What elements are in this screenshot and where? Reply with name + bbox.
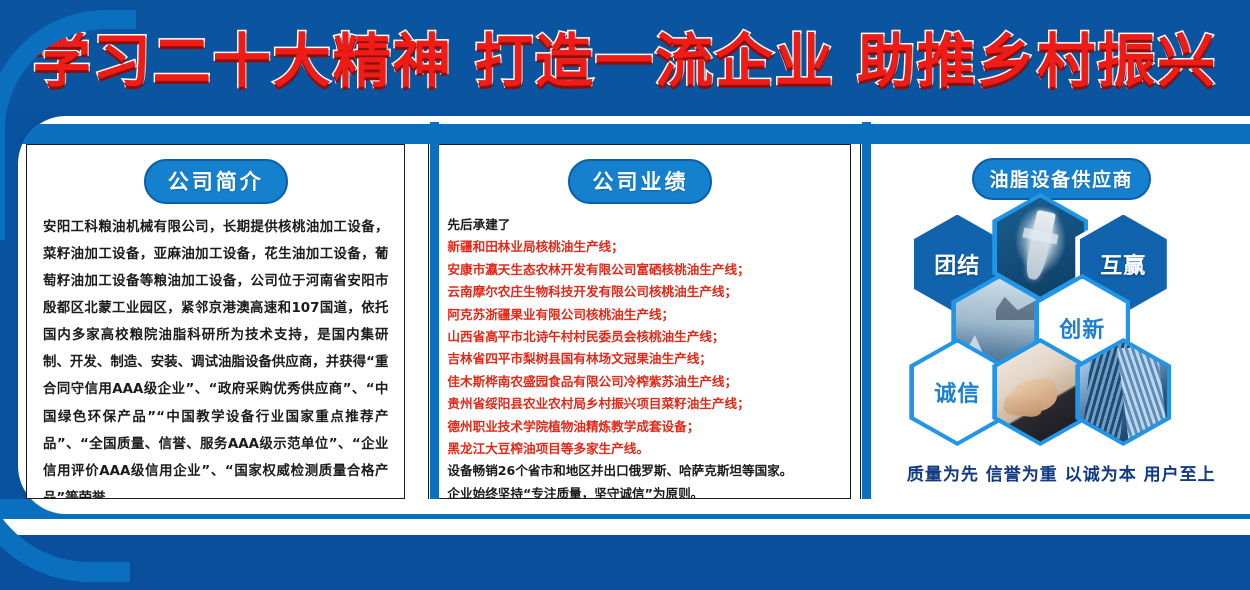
hex-chengxin-label: 诚信 (934, 376, 980, 408)
hex-handshake-inner (997, 343, 1084, 442)
achievement-item: 佳木斯桦南农盛园食品有限公司冷榨紫苏油生产线； (447, 371, 833, 393)
panels-row: 公司简介 安阳工科粮油机械有限公司，长期提供核桃油加工设备，菜籽油加工设备，亚麻… (18, 144, 1250, 499)
achievement-item: 山西省高平市北诗午村村民委员会核桃油生产线； (447, 326, 833, 348)
achievement-item: 黑龙江大豆榨油项目等多家生产线。 (447, 438, 833, 460)
company-intro-paragraph: 安阳工科粮油机械有限公司，长期提供核桃油加工设备，菜籽油加工设备，亚麻油加工设备… (43, 214, 388, 499)
banner-title: 学习二十大精神 打造一流企业 助推乡村振兴 (33, 14, 1217, 98)
hex-chengxin-inner: 诚信 (914, 343, 1001, 442)
handshake-icon (997, 343, 1084, 442)
panel-supplier-values-inner: 油脂设备供应商 团结 互赢 (873, 144, 1250, 499)
banner: 学习二十大精神 打造一流企业 助推乡村振兴 (0, 0, 1250, 112)
panel-achievements-badge: 公司业绩 (568, 159, 712, 204)
achievements-footer-line: 企业始终坚持“专注质量，坚守诚信”为原则。 (447, 483, 833, 499)
achievement-item: 新疆和田林业局核桃油生产线； (447, 236, 833, 258)
panel-divider-2 (862, 122, 871, 499)
achievements-footer-line: 设备畅销26个省市和地区并出口俄罗斯、哈萨克斯坦等国家。 (447, 460, 833, 482)
panel-company-intro-badge: 公司简介 (144, 159, 288, 204)
hexagon-cluster: 团结 互赢 (891, 210, 1231, 450)
achievement-item: 德州职业技术学院植物油精炼教学成套设备； (447, 416, 833, 438)
hex-chuangxin-label: 创新 (1059, 312, 1105, 344)
bottom-blue-footer (0, 535, 1250, 590)
hex-tuanjie-label: 团结 (934, 248, 980, 280)
skyscraper-icon (1080, 343, 1167, 442)
panel-company-achievements-inner: 公司业绩 先后承建了 新疆和田林业局核桃油生产线； 安康市瀛天生态农林开发有限公… (430, 144, 850, 499)
achievement-item: 阿克苏浙疆果业有限公司核桃油生产线； (447, 304, 833, 326)
supplier-slogan: 质量为先 信誉为重 以诚为本 用户至上 (889, 460, 1234, 485)
hex-skyscraper-inner (1080, 343, 1167, 442)
achievement-item: 吉林省四平市梨树县国有林场文冠果油生产线； (447, 348, 833, 370)
achievement-item: 贵州省绥阳县农业农村局乡村振兴项目菜籽油生产线； (447, 393, 833, 415)
panel-divider-1 (430, 122, 439, 499)
bottom-white-gap (0, 519, 1250, 535)
panel-company-intro: 公司简介 安阳工科粮油机械有限公司，长期提供核桃油加工设备，菜籽油加工设备，亚麻… (26, 144, 405, 499)
achievement-item: 安康市瀛天生态农林开发有限公司富硒核桃油生产线； (447, 259, 833, 281)
hex-huying-label: 互赢 (1100, 248, 1146, 280)
achievements-body: 先后承建了 新疆和田林业局核桃油生产线； 安康市瀛天生态农林开发有限公司富硒核桃… (447, 214, 833, 499)
panel-company-intro-inner: 公司简介 安阳工科粮油机械有限公司，长期提供核桃油加工设备，菜籽油加工设备，亚麻… (26, 144, 405, 499)
achievement-item: 云南摩尔农庄生物科技开发有限公司核桃油生产线； (447, 281, 833, 303)
panel-supplier-values: 油脂设备供应商 团结 互赢 (873, 144, 1250, 499)
card-top-accent-bar (18, 124, 1250, 144)
panel-company-achievements: 公司业绩 先后承建了 新疆和田林业局核桃油生产线； 安康市瀛天生态农林开发有限公… (430, 144, 850, 499)
panel-supplier-badge: 油脂设备供应商 (972, 158, 1152, 200)
achievements-lead: 先后承建了 (447, 214, 833, 236)
